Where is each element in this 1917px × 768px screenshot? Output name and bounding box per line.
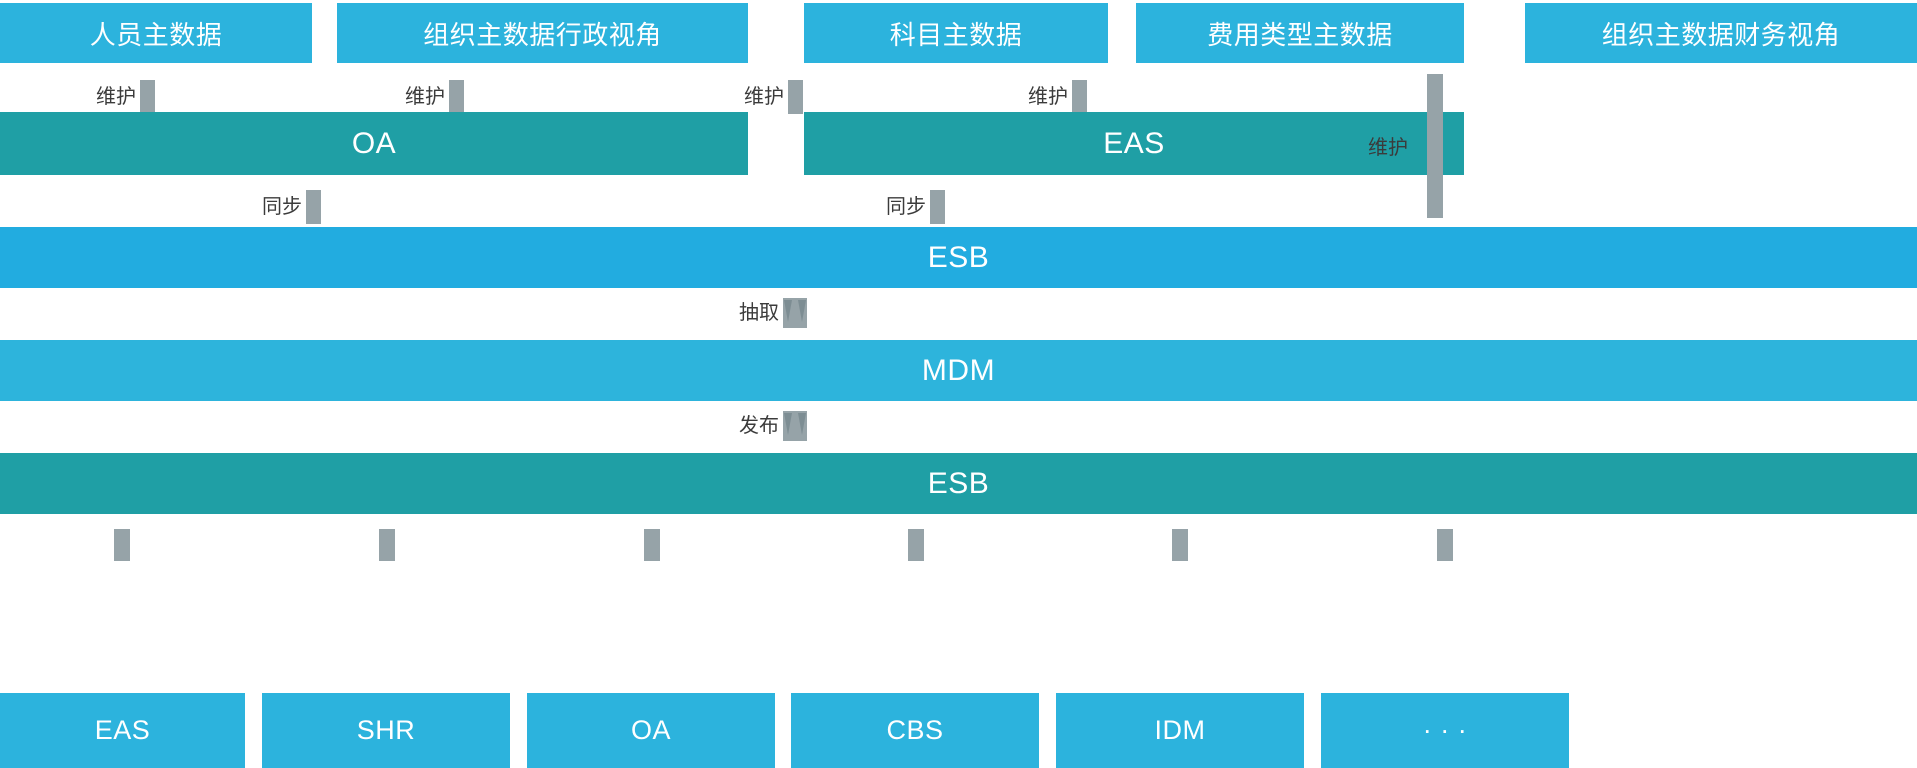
- consumer-system-box-more[interactable]: · · ·: [1321, 693, 1569, 768]
- connector-stub-icon: [114, 529, 130, 561]
- master-data-label: 科目主数据: [890, 15, 1023, 52]
- extract-label: 抽取: [739, 303, 779, 323]
- connector-stub-icon: [788, 80, 803, 114]
- down-arrow-icon: [783, 411, 807, 441]
- sync-connector-eas: 同步: [886, 190, 945, 224]
- source-system-label: OA: [352, 127, 396, 161]
- mdm-bar[interactable]: MDM: [0, 340, 1917, 401]
- master-data-label: 组织主数据财务视角: [1602, 15, 1841, 52]
- master-data-box-org-admin[interactable]: 组织主数据行政视角: [337, 3, 748, 63]
- consumer-system-label: OA: [631, 715, 671, 746]
- consumer-system-label: EAS: [95, 715, 151, 746]
- publish-label: 发布: [739, 416, 779, 436]
- esb-lower-label: ESB: [928, 467, 990, 501]
- sync-label: 同步: [262, 197, 302, 217]
- source-system-bar-oa[interactable]: OA: [0, 112, 748, 175]
- connector-stub-icon: [1072, 80, 1087, 114]
- connector-stub-icon: [140, 80, 155, 114]
- connector-stub-icon: [379, 529, 395, 561]
- maintain-label-vertical: 维护: [1368, 131, 1408, 160]
- maintain-connector-personnel: 维护: [96, 80, 155, 114]
- extract-connector: 抽取: [739, 298, 807, 328]
- publish-connector: 发布: [739, 411, 807, 441]
- mdm-label: MDM: [922, 354, 995, 388]
- master-data-box-personnel[interactable]: 人员主数据: [0, 3, 312, 63]
- esb-lower-bar[interactable]: ESB: [0, 453, 1917, 514]
- master-data-box-org-finance[interactable]: 组织主数据财务视角: [1525, 3, 1917, 63]
- connector-stub-icon: [306, 190, 321, 224]
- consumer-system-box-shr[interactable]: SHR: [262, 693, 510, 768]
- consumer-system-box-idm[interactable]: IDM: [1056, 693, 1304, 768]
- source-system-bar-eas[interactable]: EAS: [804, 112, 1464, 175]
- sync-connector-oa: 同步: [262, 190, 321, 224]
- consumer-system-box-eas[interactable]: EAS: [0, 693, 245, 768]
- maintain-label: 维护: [1028, 87, 1068, 107]
- consumer-system-label: · · ·: [1423, 715, 1467, 746]
- master-data-box-expense-type[interactable]: 费用类型主数据: [1136, 3, 1464, 63]
- consumer-system-box-oa[interactable]: OA: [527, 693, 775, 768]
- source-system-label: EAS: [1103, 127, 1165, 161]
- maintain-connector-account: 维护: [744, 80, 803, 114]
- master-data-box-account[interactable]: 科目主数据: [804, 3, 1108, 63]
- consumer-system-label: IDM: [1155, 715, 1206, 746]
- maintain-label: 维护: [744, 87, 784, 107]
- maintain-label: 维护: [405, 87, 445, 107]
- consumer-system-label: SHR: [357, 715, 416, 746]
- consumer-system-box-cbs[interactable]: CBS: [791, 693, 1039, 768]
- maintain-connector-org-admin: 维护: [405, 80, 464, 114]
- maintain-connector-expense-type: 维护: [1028, 80, 1087, 114]
- connector-stub-icon: [930, 190, 945, 224]
- vertical-connector-stub-icon: [1427, 74, 1443, 218]
- master-data-label: 费用类型主数据: [1207, 15, 1393, 52]
- connector-stub-icon: [644, 529, 660, 561]
- master-data-label: 人员主数据: [90, 15, 223, 52]
- connector-stub-icon: [1437, 529, 1453, 561]
- connector-stub-icon: [449, 80, 464, 114]
- down-arrow-icon: [783, 298, 807, 328]
- esb-upper-bar[interactable]: ESB: [0, 227, 1917, 288]
- connector-stub-icon: [1172, 529, 1188, 561]
- connector-stub-icon: [908, 529, 924, 561]
- maintain-label: 维护: [96, 87, 136, 107]
- consumer-system-label: CBS: [886, 715, 943, 746]
- sync-label: 同步: [886, 197, 926, 217]
- esb-upper-label: ESB: [928, 241, 990, 275]
- master-data-label: 组织主数据行政视角: [423, 15, 662, 52]
- mdm-architecture-diagram: 人员主数据 组织主数据行政视角 科目主数据 费用类型主数据 组织主数据财务视角 …: [0, 0, 1917, 768]
